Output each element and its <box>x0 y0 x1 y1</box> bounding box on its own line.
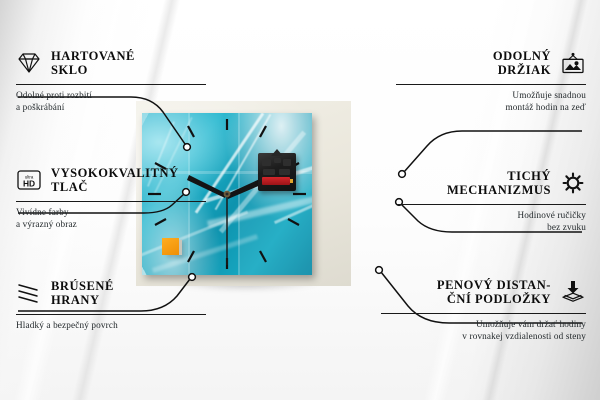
feature-header: TICHÝ MECHANIZMUS <box>396 166 586 200</box>
feature-title: ODOLNÝ DRŽIAK <box>493 49 551 78</box>
bevelled-edges-icon <box>16 281 42 305</box>
feature-title: HARTOVANÉ SKLO <box>51 49 135 78</box>
feature-title: TICHÝ MECHANIZMUS <box>447 169 551 198</box>
feature-header: PENOVÝ DISTAN- ČNÍ PODLOŽKY <box>381 275 586 309</box>
feature-divider <box>396 204 586 205</box>
feature-header: HARTOVANÉ SKLO <box>16 46 206 80</box>
feature-title: PENOVÝ DISTAN- ČNÍ PODLOŽKY <box>437 278 551 307</box>
feature-header: BRÚSENÉ HRANY <box>16 276 206 310</box>
connector-node <box>184 144 191 151</box>
feature-description: Odolné proti rozbití a poškrábání <box>16 90 206 113</box>
feature-foam-spacers: PENOVÝ DISTAN- ČNÍ PODLOŽKY Umožňuje vám… <box>381 275 586 342</box>
feature-header: ultra HD VYSOKOKVALITNÝ TLAČ <box>16 163 206 197</box>
feature-divider <box>16 84 206 85</box>
feature-title: BRÚSENÉ HRANY <box>51 279 114 308</box>
feature-durable-holder: ODOLNÝ DRŽIAK Umožňuje snadnou montáž ho… <box>396 46 586 113</box>
feature-divider <box>16 314 206 315</box>
feature-description: Hladký a bezpečný povrch <box>16 320 206 332</box>
feature-divider <box>16 201 206 202</box>
feature-divider <box>381 313 586 314</box>
ultra-hd-icon: ultra HD <box>16 168 42 192</box>
gear-icon <box>560 171 586 195</box>
feature-high-quality-print: ultra HD VYSOKOKVALITNÝ TLAČ Vivídne far… <box>16 163 206 230</box>
feature-title: VYSOKOKVALITNÝ TLAČ <box>51 166 179 195</box>
feature-description: Umožňuje snadnou montáž hodin na zeď <box>396 90 586 113</box>
picture-hanger-icon <box>560 51 586 75</box>
connector-node <box>376 267 383 274</box>
infographic-canvas: HARTOVANÉ SKLO Odolné proti rozbití a po… <box>0 0 600 400</box>
feature-description: Hodinové ručičky bez zvuku <box>396 210 586 233</box>
press-layers-icon <box>560 280 586 304</box>
feature-polished-edges: BRÚSENÉ HRANY Hladký a bezpečný povrch <box>16 276 206 332</box>
diamond-icon <box>16 51 42 75</box>
feature-silent-mechanism: TICHÝ MECHANIZMUS Hodinové ručičky bez z… <box>396 166 586 233</box>
feature-tempered-glass: HARTOVANÉ SKLO Odolné proti rozbití a po… <box>16 46 206 113</box>
svg-text:HD: HD <box>23 178 35 188</box>
feature-divider <box>396 84 586 85</box>
feature-header: ODOLNÝ DRŽIAK <box>396 46 586 80</box>
feature-description: Vivídne farby a výrazný obraz <box>16 207 206 230</box>
feature-description: Umožňuje vám držať hodiny v rovnakej vzd… <box>381 319 586 342</box>
